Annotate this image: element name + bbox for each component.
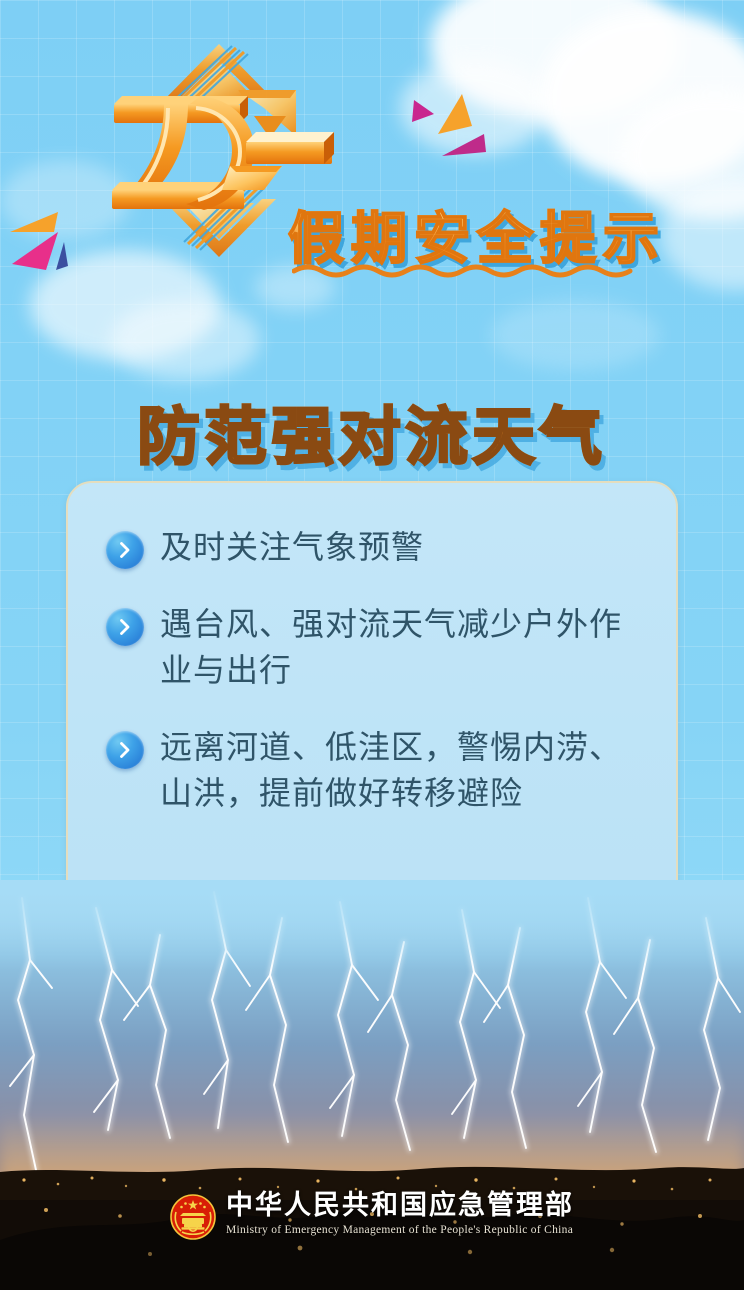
list-item: 及时关注气象预警 (106, 525, 640, 570)
chevron-right-circle-icon (106, 731, 144, 769)
list-item: 远离河道、低洼区，警惕内涝、山洪，提前做好转移避险 (106, 725, 640, 816)
organization-name-cn: 中华人民共和国应急管理部 (226, 1192, 574, 1220)
safety-tips-card: 及时关注气象预警 遇台风、强对流天气减少户外作业与出行 远离河道、低洼区，警惕内… (66, 481, 678, 911)
chevron-right-circle-icon (106, 608, 144, 646)
footer-branding: 中华人民共和国应急管理部 Ministry of Emergency Manag… (0, 1192, 744, 1254)
list-item: 遇台风、强对流天气减少户外作业与出行 (106, 602, 640, 693)
poster-root: 假期安全提示 防范强对流天气 及时关 (0, 0, 744, 1290)
list-item-label: 远离河道、低洼区，警惕内涝、山洪，提前做好转移避险 (160, 725, 640, 816)
organization-name-en: Ministry of Emergency Management of the … (226, 1224, 574, 1236)
page-title: 防范强对流天气 (0, 386, 744, 476)
list-item-label: 遇台风、强对流天气减少户外作业与出行 (160, 602, 640, 693)
confetti-magenta-top-right-icon (410, 96, 438, 135)
china-national-emblem-icon (170, 1194, 216, 1240)
header-banner: 假期安全提示 (0, 34, 744, 284)
confetti-navy-left-icon (52, 240, 70, 279)
chevron-right-circle-icon (106, 531, 144, 569)
list-item-label: 及时关注气象预警 (160, 525, 640, 570)
footer-text-group: 中华人民共和国应急管理部 Ministry of Emergency Manag… (226, 1192, 574, 1236)
cloud-shape (490, 300, 660, 370)
wavy-underline-decoration (292, 262, 640, 278)
cloud-shape (110, 300, 260, 380)
confetti-magenta-small-right-icon (440, 130, 488, 165)
